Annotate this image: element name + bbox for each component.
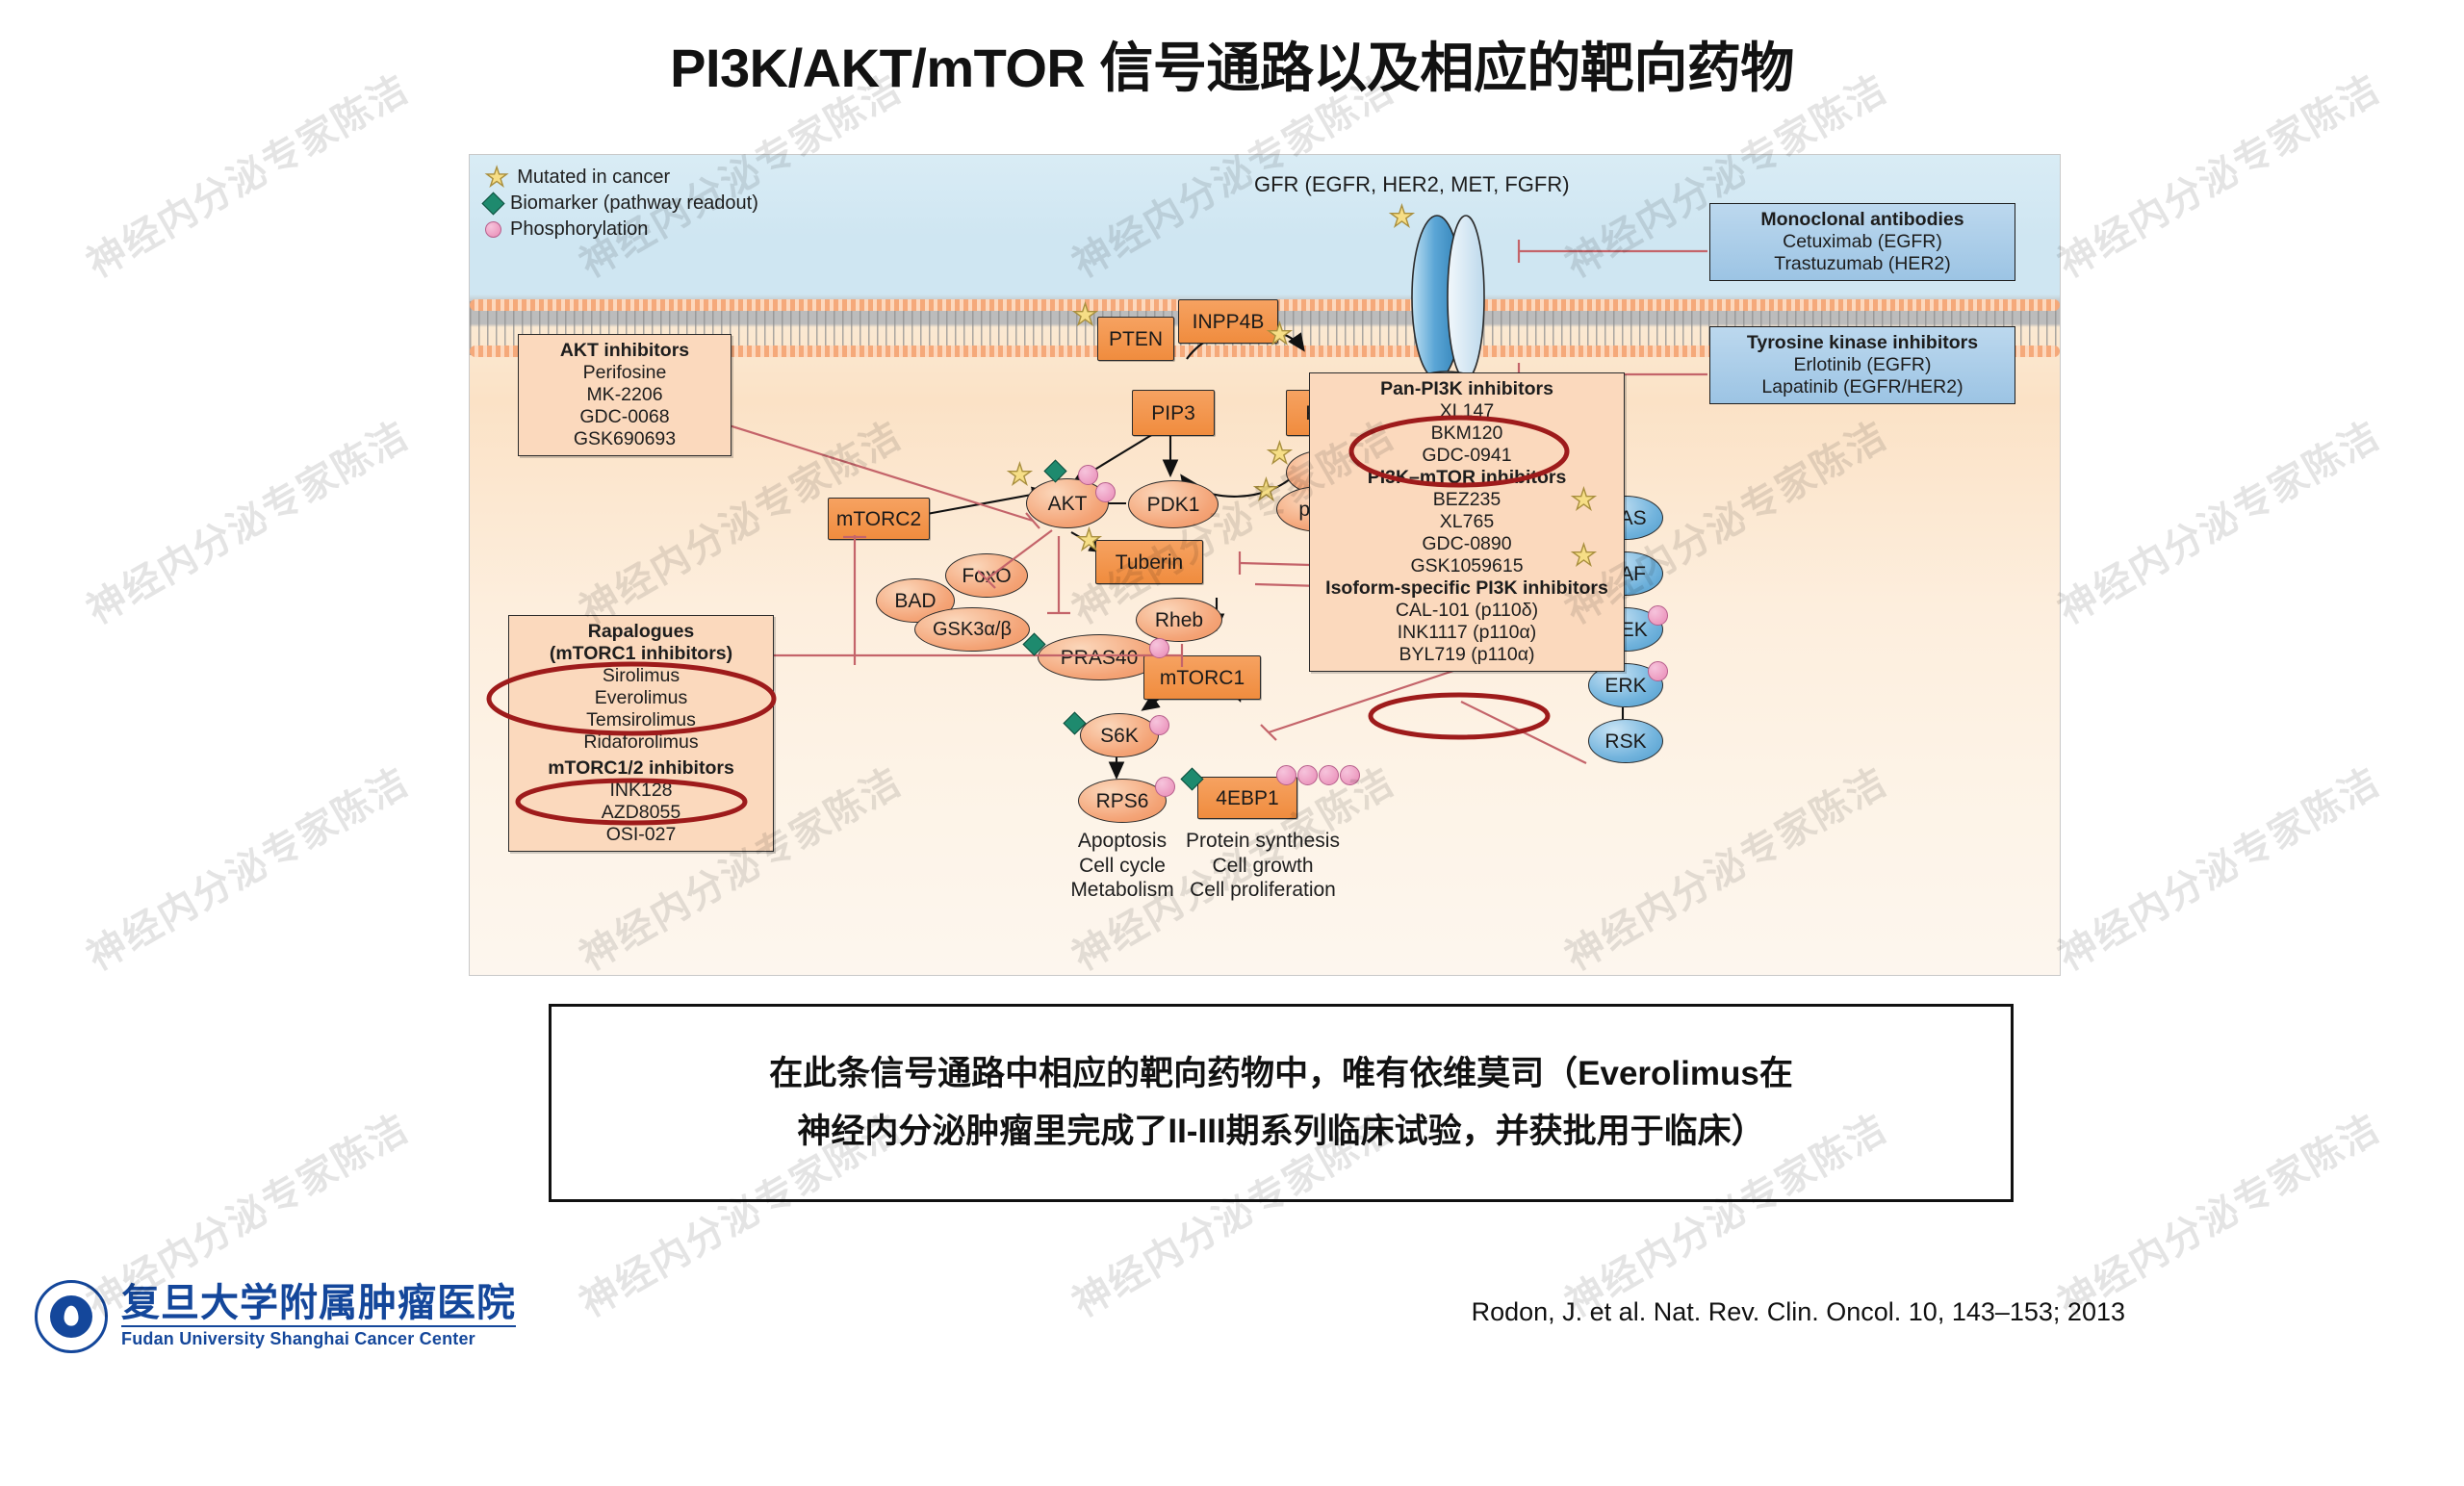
circle-icon — [1648, 661, 1668, 681]
box-line: OSI-027 — [517, 824, 765, 846]
legend-label: Phosphorylation — [510, 218, 648, 241]
box-header: Pan-PI3K inhibitors — [1318, 378, 1616, 400]
box-line: Ridaforolimus — [517, 731, 765, 754]
diamond-icon — [1026, 636, 1042, 653]
circle-icon — [1648, 605, 1668, 626]
circle-icon — [485, 221, 501, 238]
box-line: Sirolimus — [517, 665, 765, 687]
box-header: Rapalogues — [517, 621, 765, 643]
diamond-icon — [1066, 715, 1083, 731]
box-header-2: mTORC1/2 inhibitors — [517, 757, 765, 780]
outcome-4ebp1: Protein synthesis Cell growth Cell proli… — [1159, 829, 1367, 903]
outcome-line: Cell growth — [1159, 854, 1367, 879]
box-line: BKM120 — [1318, 423, 1616, 445]
box-line: Lapatinib (EGFR/HER2) — [1718, 376, 2007, 398]
drug-box-pi3k-inhibitors[interactable]: Pan-PI3K inhibitors XL147 BKM120 GDC-094… — [1309, 372, 1625, 672]
box-subheader: (mTORC1 inhibitors) — [517, 643, 765, 665]
diamond-icon — [481, 192, 504, 215]
box-line: Cetuximab (EGFR) — [1718, 231, 2007, 253]
box-header: AKT inhibitors — [526, 340, 723, 362]
star-icon: ★ — [1267, 320, 1293, 349]
drug-box-tyrosine-kinase-inhibitors[interactable]: Tyrosine kinase inhibitors Erlotinib (EG… — [1709, 326, 2015, 404]
drug-box-monoclonal-antibodies[interactable]: Monoclonal antibodies Cetuximab (EGFR) T… — [1709, 203, 2015, 281]
star-icon: ★ — [1076, 526, 1102, 555]
star-icon: ★ — [1571, 486, 1597, 515]
legend-label: Biomarker (pathway readout) — [510, 192, 758, 215]
drug-box-rapalogues[interactable]: Rapalogues (mTORC1 inhibitors) Sirolimus… — [508, 615, 774, 852]
box-header: Tyrosine kinase inhibitors — [1718, 332, 2007, 354]
box-line: MK-2206 — [526, 384, 723, 406]
box-line: GSK690693 — [526, 428, 723, 450]
legend-item-phosphorylation: Phosphorylation — [485, 217, 758, 243]
outcome-line: Protein synthesis — [1159, 829, 1367, 854]
star-icon: ★ — [1571, 542, 1597, 571]
circle-icon — [1095, 482, 1116, 502]
outcome-line: Cell proliferation — [1159, 878, 1367, 903]
box-line: Erlotinib (EGFR) — [1718, 354, 2007, 376]
citation: Rodon, J. et al. Nat. Rev. Clin. Oncol. … — [1472, 1297, 2125, 1327]
star-icon: ★ — [1389, 203, 1415, 232]
pathway-diagram: ★ Mutated in cancer Biomarker (pathway r… — [469, 154, 2061, 976]
box-line: Trastuzumab (HER2) — [1718, 253, 2007, 275]
page-title: PI3K/AKT/mTOR 信号通路以及相应的靶向药物 — [0, 25, 2464, 103]
box-line: Everolimus — [517, 687, 765, 709]
gfr-receptor-label: GFR (EGFR, HER2, MET, FGFR) — [1254, 172, 1570, 197]
fudan-seal-icon — [35, 1280, 108, 1353]
legend-label: Mutated in cancer — [517, 167, 670, 189]
caption-line-1: 在此条信号通路中相应的靶向药物中，唯有依维莫司（Everolimus在 — [769, 1045, 1793, 1103]
watermark-text: 神经内分泌专家陈洁 — [0, 939, 547, 1486]
legend-item-biomarker: Biomarker (pathway readout) — [485, 191, 758, 217]
box-line: AZD8055 — [517, 802, 765, 824]
box-line: Perifosine — [526, 362, 723, 384]
diamond-icon — [1184, 771, 1200, 787]
legend-item-mutated: ★ Mutated in cancer — [485, 165, 758, 191]
box-line: INK1117 (p110α) — [1318, 622, 1616, 644]
star-icon: ★ — [1253, 476, 1279, 505]
box-header-3: Isoform-specific PI3K inhibitors — [1318, 577, 1616, 600]
box-line: XL147 — [1318, 400, 1616, 423]
institution-logo: 复旦大学附属肿瘤医院 Fudan University Shanghai Can… — [35, 1280, 516, 1353]
star-icon: ★ — [1267, 440, 1293, 469]
caption-box: 在此条信号通路中相应的靶向药物中，唯有依维莫司（Everolimus在 神经内分… — [549, 1004, 2014, 1202]
watermark-text: 神经内分泌专家陈洁 — [0, 246, 547, 793]
box-line: BYL719 (p110α) — [1318, 644, 1616, 666]
box-line: CAL-101 (p110δ) — [1318, 600, 1616, 622]
star-icon: ★ — [1007, 461, 1033, 490]
caption-line-2: 神经内分泌肿瘤里完成了II-III期系列临床试验，并获批用于临床） — [797, 1103, 1764, 1161]
box-line: Temsirolimus — [517, 709, 765, 731]
circle-icon — [1149, 715, 1169, 735]
circle-icon — [1155, 777, 1175, 797]
box-header: Monoclonal antibodies — [1718, 209, 2007, 231]
box-line: INK128 — [517, 780, 765, 802]
star-icon: ★ — [1072, 301, 1098, 330]
star-icon: ★ — [485, 165, 508, 191]
phospho-group-icon — [1276, 765, 1360, 785]
legend: ★ Mutated in cancer Biomarker (pathway r… — [485, 165, 758, 243]
logo-name-cn: 复旦大学附属肿瘤医院 — [121, 1284, 516, 1322]
watermark-text: 神经内分泌专家陈洁 — [0, 593, 547, 1140]
diamond-icon — [1047, 463, 1064, 479]
circle-icon — [1149, 638, 1169, 658]
box-line: GDC-0941 — [1318, 445, 1616, 467]
box-line: GDC-0068 — [526, 406, 723, 428]
logo-name-en: Fudan University Shanghai Cancer Center — [121, 1325, 516, 1349]
drug-box-akt-inhibitors[interactable]: AKT inhibitors Perifosine MK-2206 GDC-00… — [518, 334, 731, 456]
